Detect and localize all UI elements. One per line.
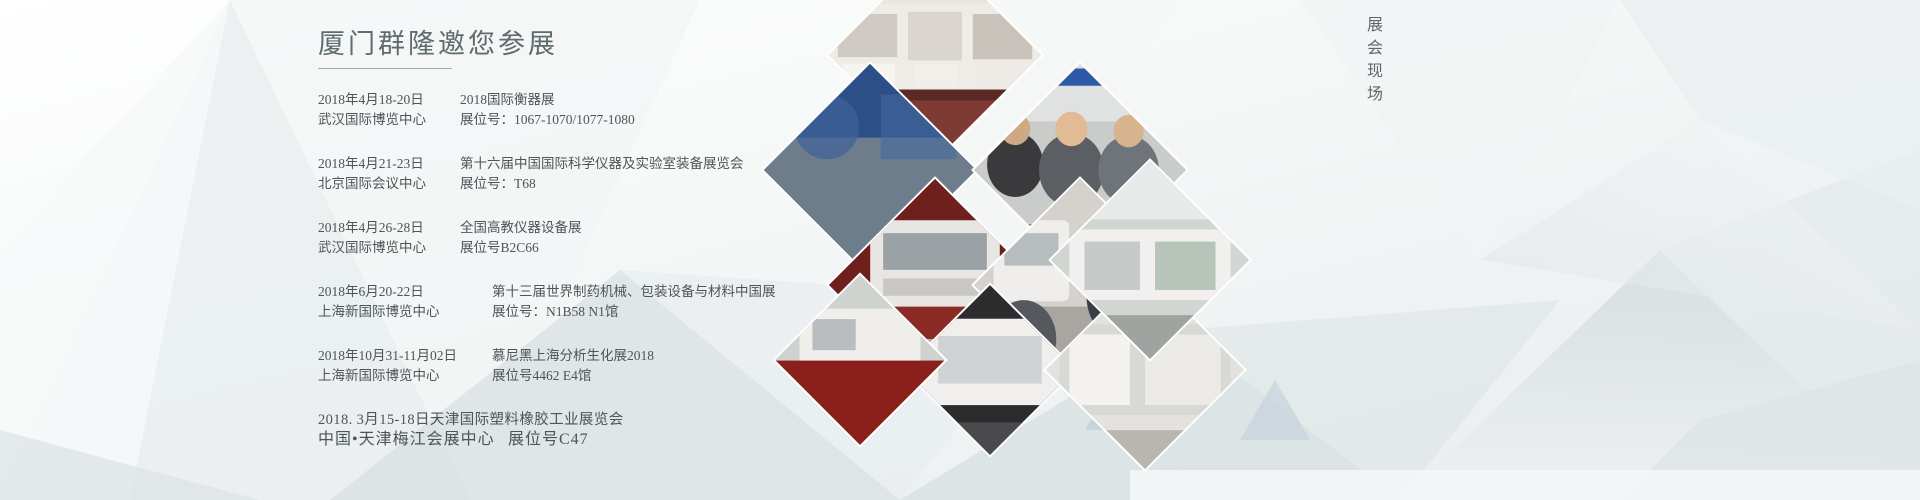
list-item: 2018年4月21-23日 第十六届中国国际科学仪器及实验室装备展览会 北京国际… <box>318 154 838 194</box>
photo-collage <box>840 0 1260 500</box>
list-item: 2018年10月31-11月02日 慕尼黑上海分析生化展2018 上海新国际博览… <box>318 346 838 386</box>
text-column: 厦门群隆邀您参展 2018年4月18-20日 2018国际衡器展 武汉国际博览中… <box>0 0 820 500</box>
list-item: 2018年4月26-28日 全国高教仪器设备展 武汉国际博览中心 展位号B2C6… <box>318 218 838 258</box>
entry-line-1: 2018年6月20-22日 第十三届世界制药机械、包装设备与材料中国展 <box>318 282 838 302</box>
entry-line-2: 北京国际会议中心 展位号：T68 <box>318 174 838 194</box>
entry-line-1: 2018年4月21-23日 第十六届中国国际科学仪器及实验室装备展览会 <box>318 154 838 174</box>
entry-line-2: 中国•天津梅江会展中心 展位号C47 <box>318 430 838 450</box>
entry-line-2: 武汉国际博览中心 展位号：1067-1070/1077-1080 <box>318 110 838 130</box>
entry-line-1: 2018年4月26-28日 全国高教仪器设备展 <box>318 218 838 238</box>
banner-root: 厦门群隆邀您参展 2018年4月18-20日 2018国际衡器展 武汉国际博览中… <box>0 0 1920 500</box>
entry-booth: 展位号：1067-1070/1077-1080 <box>460 110 635 130</box>
entry-booth: 展位号：T68 <box>460 174 536 194</box>
list-item: 2018. 3月15-18日天津国际塑料橡胶工业展览会 中国•天津梅江会展中心 … <box>318 410 838 450</box>
page-title: 厦门群隆邀您参展 <box>318 22 558 61</box>
entry-line-2: 武汉国际博览中心 展位号B2C66 <box>318 238 838 258</box>
vertical-caption: 展会现场 <box>1360 16 1384 108</box>
entry-date: 2018年10月31-11月02日 <box>318 346 468 366</box>
entry-date: 2018年4月18-20日 <box>318 90 436 110</box>
entry-date: 2018年4月26-28日 <box>318 218 436 238</box>
entry-line-2: 上海新国际博览中心 展位号：N1B58 N1馆 <box>318 302 838 322</box>
entry-venue: 武汉国际博览中心 <box>318 238 436 258</box>
entry-booth: 展位号C47 <box>508 430 589 450</box>
entry-venue: 上海新国际博览中心 <box>318 366 468 386</box>
list-item: 2018年4月18-20日 2018国际衡器展 武汉国际博览中心 展位号：106… <box>318 90 838 130</box>
entry-venue: 北京国际会议中心 <box>318 174 436 194</box>
exhibition-list: 2018年4月18-20日 2018国际衡器展 武汉国际博览中心 展位号：106… <box>318 90 838 474</box>
entry-venue: 中国•天津梅江会展中心 <box>318 430 508 450</box>
entry-booth: 展位号：N1B58 N1馆 <box>492 302 618 322</box>
entry-name: 2018国际衡器展 <box>460 90 555 110</box>
entry-name: 第十六届中国国际科学仪器及实验室装备展览会 <box>460 154 744 174</box>
entry-date: 2018年6月20-22日 <box>318 282 468 302</box>
entry-booth: 展位号4462 E4馆 <box>492 366 591 386</box>
entry-name: 全国高教仪器设备展 <box>460 218 582 238</box>
entry-line-1: 2018. 3月15-18日天津国际塑料橡胶工业展览会 <box>318 410 838 430</box>
headline-block: 厦门群隆邀您参展 <box>318 22 558 69</box>
entry-line-1: 2018年10月31-11月02日 慕尼黑上海分析生化展2018 <box>318 346 838 366</box>
entry-date: 2018. 3月15-18日天津国际塑料橡胶工业展览会 <box>318 410 624 430</box>
entry-date: 2018年4月21-23日 <box>318 154 436 174</box>
entry-line-1: 2018年4月18-20日 2018国际衡器展 <box>318 90 838 110</box>
entry-name: 第十三届世界制药机械、包装设备与材料中国展 <box>492 282 776 302</box>
entry-venue: 上海新国际博览中心 <box>318 302 468 322</box>
entry-venue: 武汉国际博览中心 <box>318 110 436 130</box>
entry-line-2: 上海新国际博览中心 展位号4462 E4馆 <box>318 366 838 386</box>
list-item: 2018年6月20-22日 第十三届世界制药机械、包装设备与材料中国展 上海新国… <box>318 282 838 322</box>
entry-name: 慕尼黑上海分析生化展2018 <box>492 346 654 366</box>
title-underline <box>318 68 452 69</box>
entry-booth: 展位号B2C66 <box>460 238 539 258</box>
